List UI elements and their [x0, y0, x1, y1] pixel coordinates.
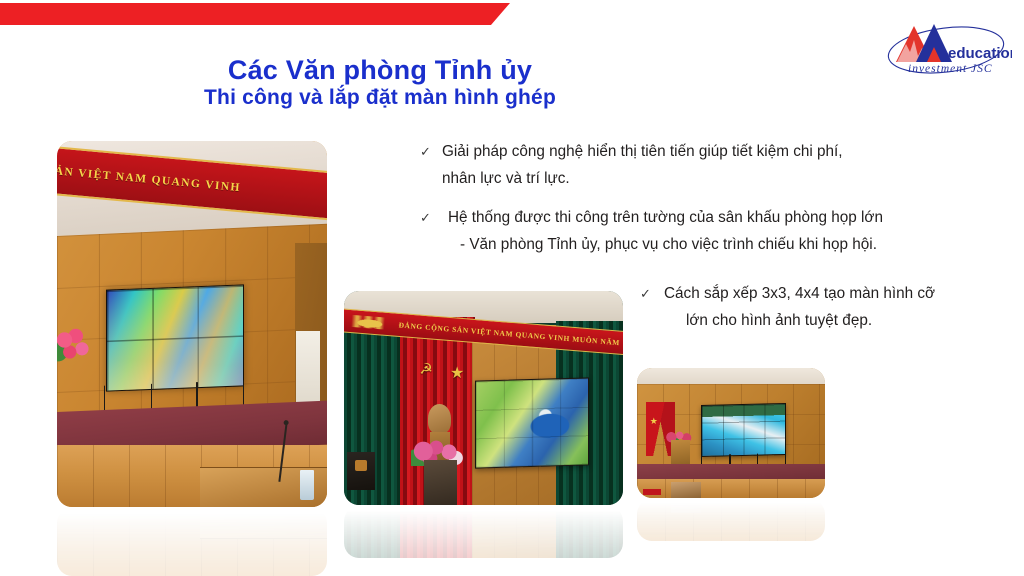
- photo-3-reflection: [637, 499, 825, 541]
- video-wall-screen: [106, 285, 244, 393]
- bullet-text-3: Cách sắp xếp 3x3, 4x4 tạo màn hình cỡlớn…: [664, 281, 1008, 334]
- photo-2-scene: ĐẢNG CỘNG SẢN VIỆT NAM QUANG VINH MUÔN N…: [344, 291, 623, 505]
- logo-mark: education investment JSC: [884, 14, 1012, 76]
- name-plate: [643, 489, 662, 496]
- bullet-1-line-1: Giải pháp công nghệ hiển thị tiên tiến g…: [442, 143, 843, 160]
- bullet-2-line-2: - Văn phòng Tỉnh ủy, phục vụ cho việc tr…: [448, 232, 996, 259]
- photo-1-scene: SẢN VIỆT NAM QUANG VINH: [57, 141, 327, 507]
- page-subtitle: Thi công và lắp đặt màn hình ghép: [60, 86, 700, 110]
- video-wall-screen: [701, 403, 786, 457]
- logo-tagline-text: investment JSC: [908, 63, 993, 75]
- banner-text: SẢN VIỆT NAM QUANG VINH: [57, 164, 241, 194]
- bullet-item-1: ✓ Giải pháp công nghệ hiển thị tiên tiến…: [420, 139, 1002, 192]
- company-logo: education investment JSC: [884, 14, 1012, 76]
- logo-education-text: education: [948, 45, 1012, 62]
- flower-arrangement: [57, 324, 89, 364]
- photo-2-reflection: [344, 506, 623, 558]
- bullet-item-2: ✓ Hệ thống được thi công trên tường của …: [420, 205, 1002, 258]
- stage-front-panel: [637, 479, 825, 499]
- podium: [424, 460, 457, 505]
- photo-3-scene: [637, 368, 825, 498]
- slide-title-block: Các Văn phòng Tỉnh ủy Thi công và lắp đặ…: [60, 55, 700, 110]
- bullet-1-line-2: nhân lực và trí lực.: [442, 166, 1002, 193]
- photo-meeting-room[interactable]: [637, 368, 825, 498]
- photo-party-stage[interactable]: ĐẢNG CỘNG SẢN VIỆT NAM QUANG VINH MUÔN N…: [344, 291, 623, 505]
- speaker-box: [347, 452, 375, 491]
- slide-root: education investment JSC Các Văn phòng T…: [0, 0, 1024, 576]
- bullet-3-line-2: lớn cho hình ảnh tuyệt đẹp.: [664, 308, 1008, 335]
- foreground-chair: [671, 482, 701, 498]
- checkmark-icon: ✓: [640, 281, 664, 334]
- checkmark-icon: ✓: [420, 139, 442, 192]
- checkmark-icon: ✓: [420, 205, 448, 258]
- banner-ornament-icon: [347, 314, 394, 330]
- photo-1-reflection: [57, 508, 327, 576]
- top-red-banner: [0, 3, 510, 25]
- ho-chi-minh-bust: [428, 404, 452, 434]
- gold-star-icon: ★: [450, 366, 470, 385]
- water-bottle: [300, 470, 314, 499]
- bullet-item-3: ✓ Cách sắp xếp 3x3, 4x4 tạo màn hình cỡl…: [640, 281, 1010, 334]
- bullet-2-line-1: Hệ thống được thi công trên tường của sâ…: [448, 209, 883, 226]
- bullet-text-1: Giải pháp công nghệ hiển thị tiên tiến g…: [442, 139, 1002, 192]
- photo-hall-large[interactable]: SẢN VIỆT NAM QUANG VINH: [57, 141, 327, 507]
- stage-carpet: [637, 464, 825, 480]
- hammer-sickle-icon: ☭: [419, 362, 441, 383]
- led-screen-macaw: [475, 377, 589, 468]
- bullet-text-2: Hệ thống được thi công trên tường của sâ…: [448, 205, 996, 258]
- page-title: Các Văn phòng Tỉnh ủy: [60, 55, 700, 85]
- bullet-3-line-1: Cách sắp xếp 3x3, 4x4 tạo màn hình cỡ: [664, 285, 935, 302]
